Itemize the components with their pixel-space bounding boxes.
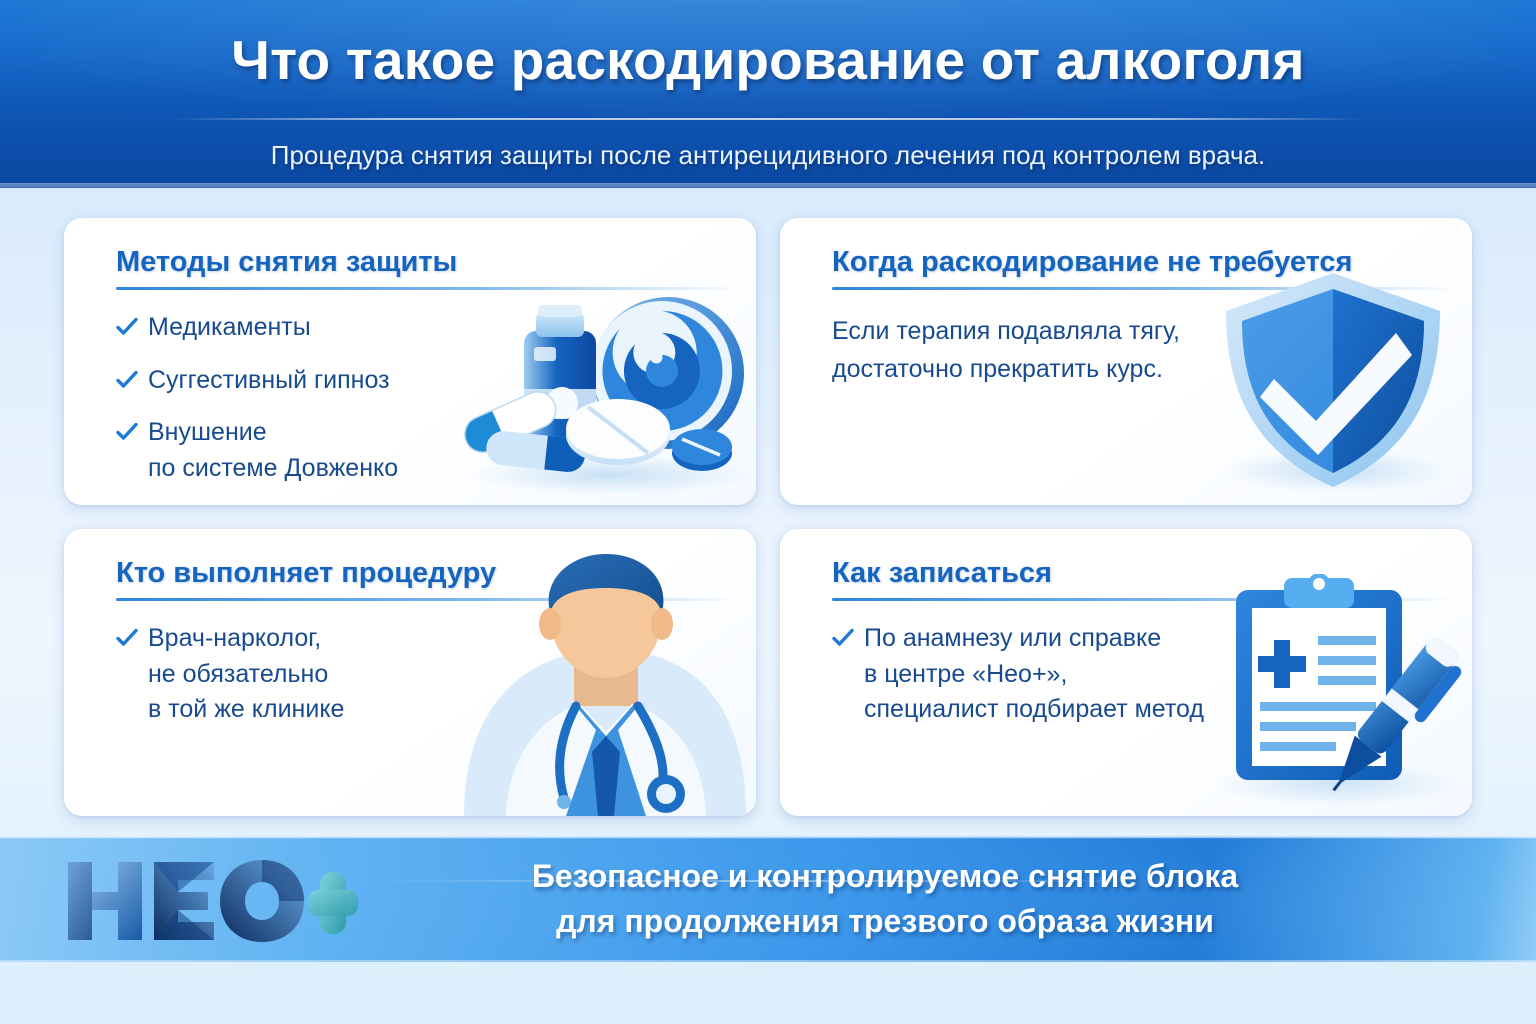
infographic-page: Что такое раскодирование от алкоголя Про…: [0, 0, 1536, 1024]
header-banner: Что такое раскодирование от алкоголя Про…: [0, 0, 1536, 188]
list-item-label: Медикаменты: [148, 310, 311, 346]
neo-plus-logo: [62, 852, 358, 948]
shield-check-illustration: [1208, 263, 1458, 501]
pills-and-spiral-illustration: [450, 277, 750, 499]
cards-grid: Методы снятия защиты Медикаменты Суггест…: [64, 218, 1472, 816]
check-icon: [116, 316, 138, 338]
list-item-label: Врач-нарколог, не обязательно в той же к…: [148, 621, 344, 728]
footer-banner: Безопасное и контролируемое снятие блока…: [0, 836, 1536, 962]
page-title: Что такое раскодирование от алкоголя: [0, 28, 1536, 92]
card-title-methods: Методы снятия защиты: [116, 246, 738, 278]
list-item-label: По анамнезу или справке в центре «Нео+»,…: [864, 621, 1204, 728]
card-when-not-needed: Когда раскодирование не требуется Если т…: [780, 218, 1472, 505]
card-who-performs: Кто выполняет процедуру Врач-нарколог, н…: [64, 529, 756, 816]
list-item-label: Суггестивный гипноз: [148, 363, 390, 399]
footer-tagline: Безопасное и контролируемое снятие блока…: [360, 854, 1410, 945]
page-subtitle: Процедура снятия защиты после антирециди…: [0, 140, 1536, 171]
check-icon: [116, 421, 138, 443]
card-how-to-book: Как записаться По анамнезу или справке в…: [780, 529, 1472, 816]
doctor-illustration: [446, 554, 756, 816]
header-divider: [170, 118, 1366, 120]
footer-divider: [360, 880, 1160, 882]
check-icon: [116, 627, 138, 649]
footer-tagline-line1: Безопасное и контролируемое снятие блока: [360, 854, 1410, 899]
clipboard-pen-illustration: [1202, 574, 1464, 810]
list-item-label: Внушение по системе Довженко: [148, 415, 398, 486]
check-icon: [832, 627, 854, 649]
check-icon: [116, 369, 138, 391]
footer-tagline-line2: для продолжения трезвого образа жизни: [360, 899, 1410, 944]
card-methods: Методы снятия защиты Медикаменты Суггест…: [64, 218, 756, 505]
